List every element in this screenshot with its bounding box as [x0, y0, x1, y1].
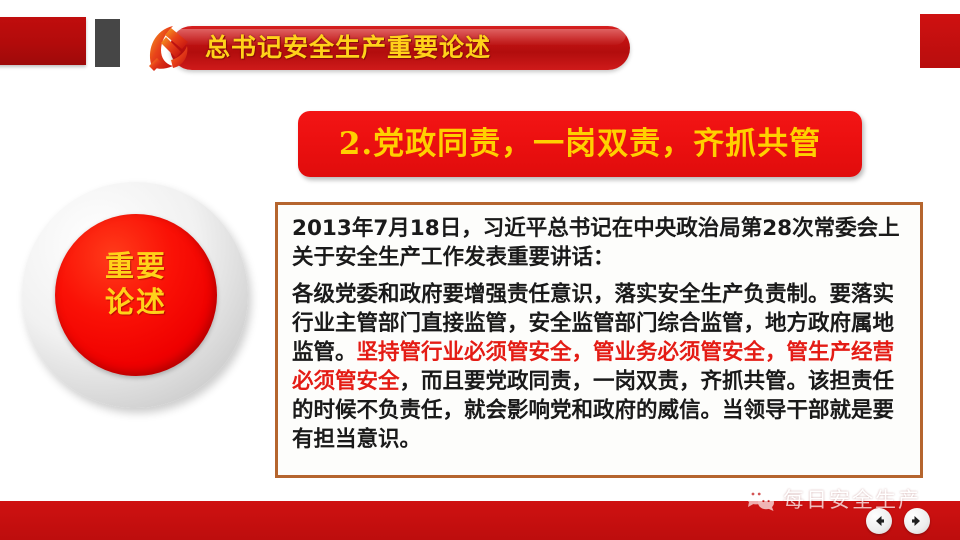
wechat-icon	[745, 486, 775, 512]
section-heading-text: 2.党政同责，一岗双责，齐抓共管	[298, 111, 862, 177]
decor-gray-bar-left	[95, 19, 120, 67]
arrow-right-icon	[910, 514, 924, 528]
prev-slide-button[interactable]	[866, 508, 892, 534]
badge-label-line2: 论述	[55, 284, 217, 320]
party-emblem-hammer-sickle-icon	[141, 20, 199, 76]
content-lead-paragraph: 2013年7月18日，习近平总书记在中央政治局第28次常委会上关于安全生产工作发…	[292, 214, 912, 272]
decor-red-bar-left	[0, 17, 86, 65]
next-slide-button[interactable]	[904, 508, 930, 534]
header-title: 总书记安全生产重要论述	[205, 28, 625, 68]
slide-canvas: 总书记安全生产重要论述 2.党政同责，一岗双责，齐抓共管 重要 论述 2013年…	[0, 0, 960, 540]
content-body: 2013年7月18日，习近平总书记在中央政治局第28次常委会上关于安全生产工作发…	[292, 214, 912, 470]
content-main-paragraph: 各级党委和政府要增强责任意识，落实安全生产负责制。要落实行业主管部门直接监管，安…	[292, 280, 912, 454]
badge-label-line1: 重要	[55, 248, 217, 284]
decor-red-bar-right	[920, 14, 960, 68]
arrow-left-icon	[872, 514, 886, 528]
slide-navigation	[866, 508, 930, 534]
badge-label: 重要 论述	[55, 248, 217, 320]
